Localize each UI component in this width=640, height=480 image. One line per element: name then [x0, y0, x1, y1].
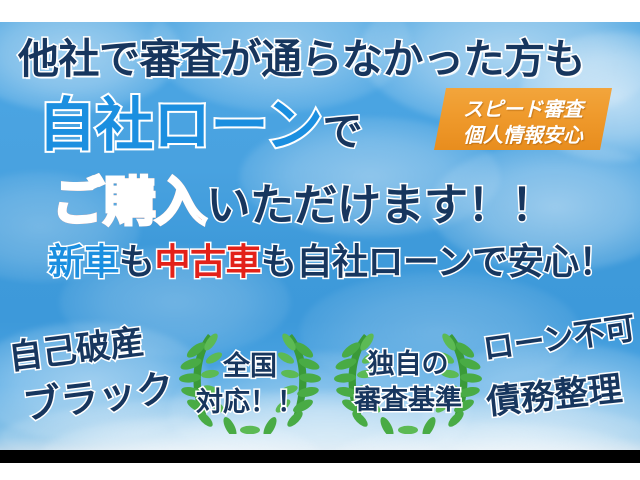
headline-loan-reassurance: も自社ローンで安心！	[261, 242, 614, 283]
headline-purchase-suffix: いただけます！！	[207, 180, 555, 231]
headline-purchase-main: ご購入	[52, 173, 207, 233]
letterbox-bottom-band	[0, 463, 640, 480]
medal-original-screening-criteria: 独自の 審査基準	[330, 330, 486, 434]
headline-used-car: 中古車	[155, 242, 262, 283]
headline-purchase: ご購入いただけます！！	[52, 160, 555, 235]
medal-nationwide-line2: 対応！！	[178, 380, 322, 419]
headline-particle-mo-1: も	[119, 242, 155, 283]
headline-new-and-used-cars: 新車も中古車も自社ローンで安心！	[48, 233, 614, 285]
headline-new-car: 新車	[48, 242, 119, 283]
medal-nationwide-support: 全国 対応！！	[178, 330, 322, 434]
headline-other-company-rejected: 他社で審査が通らなかった方も	[18, 25, 585, 85]
speed-screening-badge-line2: 個人情報安心	[434, 119, 612, 148]
headline-in-house-loan-main: 自社ローン	[38, 91, 323, 159]
letterbox-top-band	[0, 0, 640, 22]
medal-original-criteria-line1: 独自の	[330, 342, 486, 381]
medal-nationwide-line1: 全国	[178, 344, 322, 383]
speed-screening-badge-line1: スピード審査	[434, 93, 612, 122]
headline-in-house-loan-particle: で	[323, 109, 363, 155]
speed-screening-badge: スピード審査 個人情報安心	[434, 88, 612, 150]
letterbox-black-band	[0, 450, 640, 463]
medal-original-criteria-line2: 審査基準	[330, 378, 486, 417]
headline-in-house-loan: 自社ローンで	[38, 78, 362, 162]
advertisement-banner: 他社で審査が通らなかった方も 自社ローンで ご購入いただけます！！ 新車も中古車…	[0, 0, 640, 480]
